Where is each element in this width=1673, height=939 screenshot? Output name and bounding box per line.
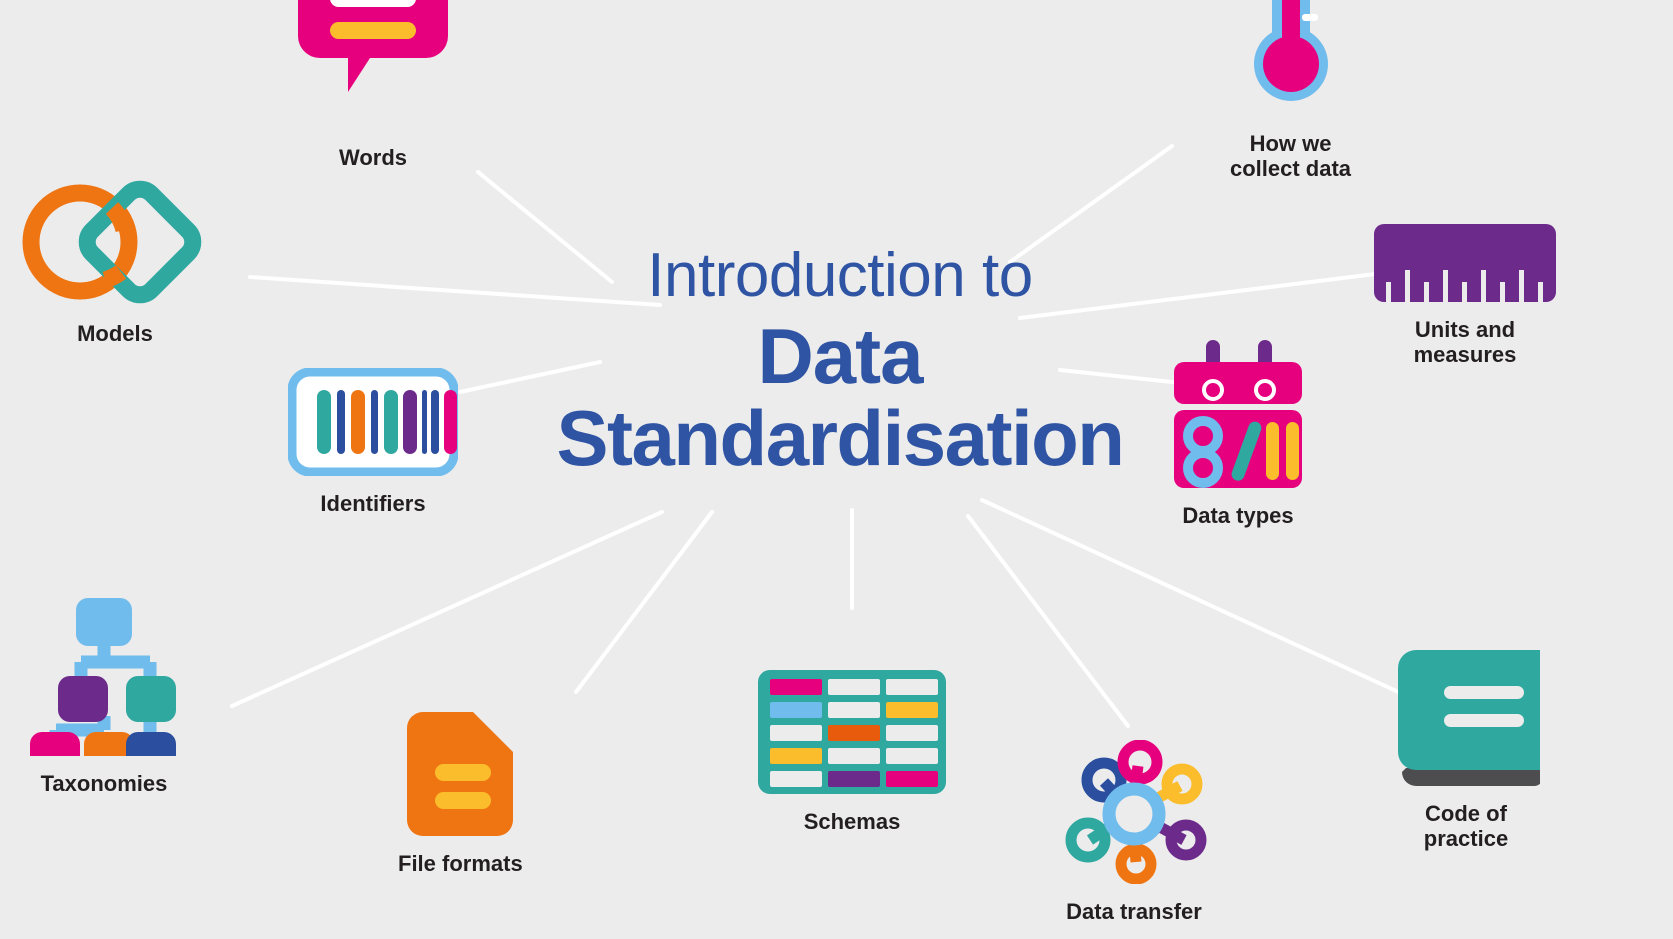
node-file-formats[interactable]: File formats	[398, 712, 523, 876]
title-line-1: Introduction to	[430, 245, 1250, 307]
node-label-schemas: Schemas	[804, 809, 901, 834]
book-icon	[1392, 650, 1540, 791]
ruler-icon	[1374, 224, 1556, 307]
node-label-file-formats: File formats	[398, 851, 523, 876]
ray-taxonomies	[232, 512, 662, 706]
node-label-taxonomies: Taxonomies	[41, 771, 168, 796]
node-label-how-we-collect-data: How we collect data	[1230, 131, 1351, 182]
node-data-transfer[interactable]: Data transfer	[1060, 740, 1208, 924]
node-label-models: Models	[77, 321, 153, 346]
ray-datatransfer	[968, 516, 1128, 726]
node-words[interactable]: Words	[298, 0, 448, 170]
node-schemas[interactable]: Schemas	[758, 670, 946, 834]
network-nodes-icon	[1060, 740, 1208, 889]
title-line-3: Standardisation	[430, 399, 1250, 477]
node-data-types[interactable]: Data types	[1166, 340, 1310, 528]
page-title: Introduction to Data Standardisation	[430, 245, 1250, 477]
calendar-icon	[1166, 340, 1310, 493]
infographic-canvas: Introduction to Data Standardisation Wor…	[0, 0, 1673, 939]
node-units-and-measures[interactable]: Units and measures	[1374, 224, 1556, 368]
grid-table-icon	[758, 670, 946, 799]
node-taxonomies[interactable]: Taxonomies	[28, 592, 180, 796]
node-models[interactable]: Models	[20, 178, 210, 346]
node-label-identifiers: Identifiers	[320, 491, 425, 516]
node-label-units-and-measures: Units and measures	[1414, 317, 1517, 368]
node-code-of-practice[interactable]: Code of practice	[1392, 650, 1540, 852]
hierarchy-tree-icon	[28, 592, 180, 761]
node-label-data-types: Data types	[1182, 503, 1293, 528]
ray-fileformats	[576, 512, 712, 692]
thermometer-icon	[1250, 0, 1332, 121]
speech-bubble-icon	[298, 0, 448, 135]
node-label-data-transfer: Data transfer	[1066, 899, 1202, 924]
ray-codeofpractice	[982, 500, 1420, 702]
document-icon	[407, 712, 513, 841]
node-label-words: Words	[339, 145, 407, 170]
node-label-code-of-practice: Code of practice	[1424, 801, 1508, 852]
barcode-icon	[288, 368, 458, 481]
title-line-2: Data	[430, 317, 1250, 395]
node-identifiers[interactable]: Identifiers	[288, 368, 458, 516]
circle-diamond-icon	[20, 178, 210, 311]
node-how-we-collect-data[interactable]: How we collect data	[1230, 0, 1351, 182]
